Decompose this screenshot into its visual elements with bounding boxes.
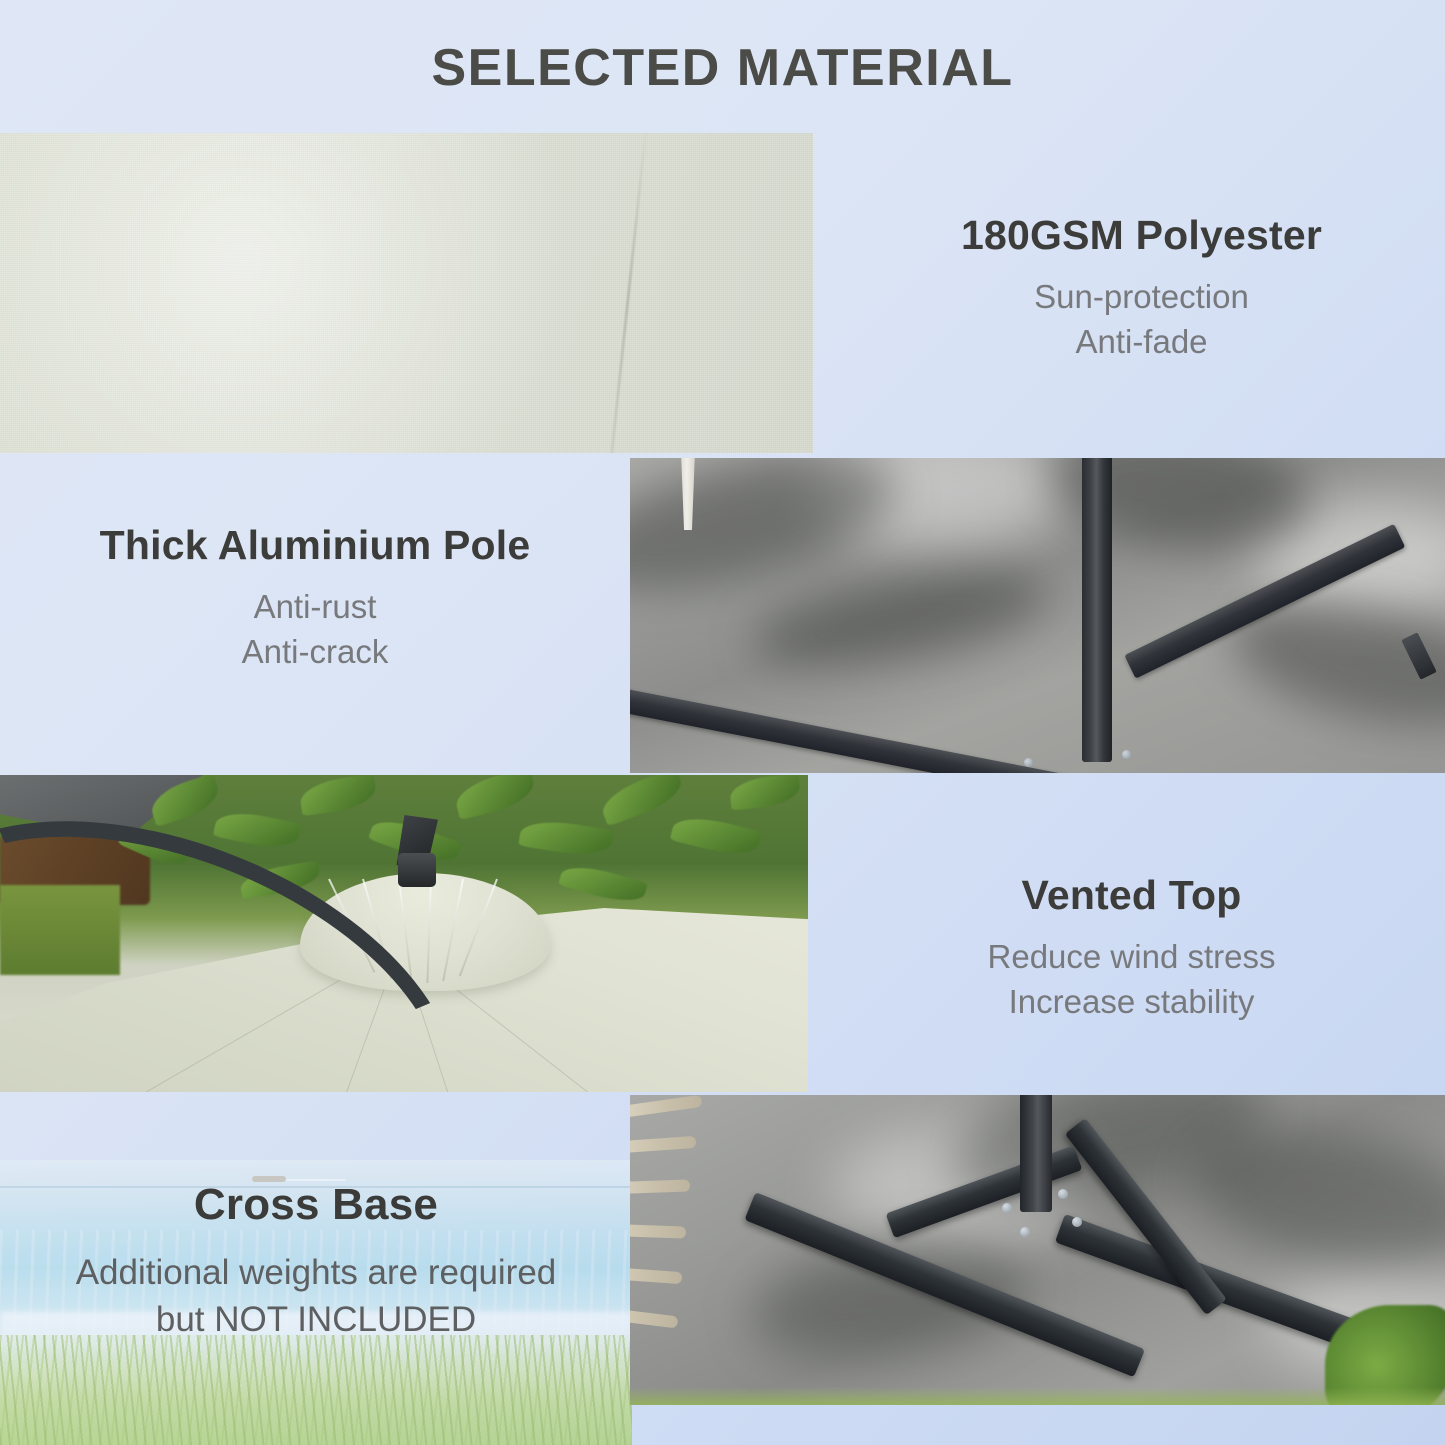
foliage-leaf [597, 775, 687, 826]
foliage-leaf [213, 807, 301, 854]
feature-polyester-subtext: Sun-protection Anti-fade [838, 275, 1445, 364]
base-screw [1058, 1189, 1068, 1199]
page-title: SELECTED MATERIAL [0, 38, 1445, 98]
aluminium-pole [1082, 458, 1112, 762]
fabric-texture [0, 133, 813, 453]
grass-edge [630, 1387, 1445, 1405]
vent-fold [426, 879, 432, 983]
foliage-leaf [452, 775, 538, 820]
feature-pole-subtext: Anti-rust Anti-crack [0, 585, 630, 674]
feature-polyester: 180GSM Polyester Sun-protection Anti-fad… [838, 212, 1445, 364]
aluminium-pole-photo [630, 458, 1445, 773]
rug-tassel [630, 1095, 702, 1119]
feature-vent: Vented Top Reduce wind stress Increase s… [818, 872, 1445, 1024]
feature-vent-line-1: Reduce wind stress [818, 935, 1445, 980]
rug-tassel [630, 1179, 690, 1194]
canopy-hub [398, 853, 436, 887]
base-screw [1122, 750, 1131, 759]
foliage-leaf [558, 860, 648, 909]
rug-tassel [630, 1223, 686, 1238]
dune-grass [0, 1335, 632, 1445]
aluminium-pole [1020, 1095, 1052, 1212]
vent-fold [459, 879, 498, 977]
feature-cross-base: Cross Base Additional weights are requir… [0, 1180, 632, 1343]
ground-shadow [745, 553, 1054, 684]
foliage-leaf [729, 775, 802, 811]
foliage-leaf [670, 811, 763, 861]
cross-base-photo [630, 1095, 1445, 1405]
rug-tassel [630, 1266, 682, 1284]
feature-polyester-line-1: Sun-protection [838, 275, 1445, 320]
feature-polyester-title: 180GSM Polyester [838, 212, 1445, 259]
rug-fringe [630, 1095, 750, 1345]
foliage-leaf [298, 775, 378, 816]
fabric-swatch-photo [0, 133, 813, 453]
foliage-leaf [518, 816, 614, 860]
feature-vent-line-2: Increase stability [818, 980, 1445, 1025]
feature-cross-base-line-2: but NOT INCLUDED [0, 1296, 632, 1343]
feature-polyester-line-2: Anti-fade [838, 320, 1445, 365]
feature-pole-title: Thick Aluminium Pole [0, 522, 630, 569]
feature-vent-title: Vented Top [818, 872, 1445, 919]
rug-tassel [630, 1136, 696, 1154]
feature-cross-base-subtext: Additional weights are required but NOT … [0, 1249, 632, 1344]
base-screw [1002, 1203, 1012, 1213]
feature-cross-base-title: Cross Base [0, 1180, 632, 1231]
infographic-page: SELECTED MATERIAL 180GSM Polyester Sun-p… [0, 0, 1445, 1445]
feature-pole-line-2: Anti-crack [0, 630, 630, 675]
base-screw [1024, 758, 1033, 767]
feature-cross-base-line-1: Additional weights are required [0, 1249, 632, 1296]
base-screw [1072, 1217, 1082, 1227]
feature-pole-line-1: Anti-rust [0, 585, 630, 630]
vent-fold [442, 879, 464, 981]
feature-vent-subtext: Reduce wind stress Increase stability [818, 935, 1445, 1024]
base-screw [1020, 1227, 1030, 1237]
feature-pole: Thick Aluminium Pole Anti-rust Anti-crac… [0, 522, 630, 674]
rug-tassel [630, 1306, 678, 1329]
vented-top-photo [0, 775, 808, 1092]
